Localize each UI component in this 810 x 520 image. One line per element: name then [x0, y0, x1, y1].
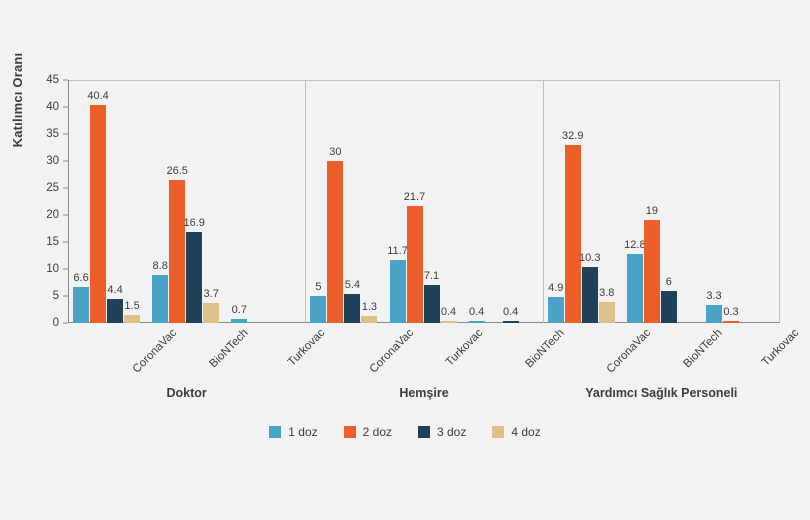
bar: 5 — [310, 296, 326, 323]
bar-value-label: 10.3 — [579, 252, 600, 264]
bar-value-label: 5 — [315, 281, 321, 293]
x-tick-label: Turkovac — [285, 327, 327, 369]
legend-label: 1 doz — [288, 425, 317, 439]
bar: 3.8 — [599, 302, 615, 323]
y-tick-label: 15 — [46, 236, 68, 248]
legend-swatch — [492, 426, 504, 438]
x-tick-label: BioNTech — [524, 327, 567, 370]
bar: 0.3 — [723, 321, 739, 323]
x-tick-label: CoronaVac — [367, 327, 416, 376]
bar-chart: Katılımcı Oranı 051015202530354045 6.640… — [0, 0, 810, 520]
bar-value-label: 0.4 — [503, 306, 518, 318]
bar: 0.7 — [231, 319, 247, 323]
bar: 16.9 — [186, 232, 202, 323]
bar-value-label: 12.8 — [624, 239, 645, 251]
bar: 11.7 — [390, 260, 406, 323]
plot-right-border — [779, 80, 780, 323]
panel-title: Yardımcı Sağlık Personeli — [585, 386, 737, 400]
bar: 0.4 — [503, 321, 519, 323]
bar-value-label: 21.7 — [404, 191, 425, 203]
panel-title: Doktor — [167, 386, 207, 400]
legend-item[interactable]: 1 doz — [269, 425, 317, 439]
x-tick-label: Turkovac — [444, 327, 486, 369]
y-tick-label: 0 — [53, 317, 68, 329]
bar-value-label: 3.3 — [706, 290, 721, 302]
y-axis-line — [68, 80, 69, 323]
legend-label: 4 doz — [511, 425, 540, 439]
x-tick-label: BioNTech — [682, 327, 725, 370]
bar: 8.8 — [152, 275, 168, 323]
y-axis-title: Katılımcı Oranı — [10, 0, 25, 200]
bar: 7.1 — [424, 285, 440, 323]
legend-label: 2 doz — [363, 425, 392, 439]
y-tick-label: 45 — [46, 74, 68, 86]
bar-value-label: 19 — [646, 205, 658, 217]
bar-value-label: 1.3 — [362, 301, 377, 313]
panel-title: Hemşire — [399, 386, 448, 400]
bar: 4.4 — [107, 299, 123, 323]
x-tick-label: CoronaVac — [130, 327, 179, 376]
bar: 4.9 — [548, 297, 564, 323]
bar-value-label: 4.4 — [107, 284, 122, 296]
bar-value-label: 16.9 — [183, 217, 204, 229]
bar: 1.3 — [361, 316, 377, 323]
bar-value-label: 1.5 — [124, 300, 139, 312]
bar: 26.5 — [169, 180, 185, 323]
legend-swatch — [344, 426, 356, 438]
bar: 40.4 — [90, 105, 106, 323]
y-tick-label: 20 — [46, 209, 68, 221]
y-tick-label: 5 — [53, 290, 68, 302]
legend-swatch — [418, 426, 430, 438]
x-tick-label: BioNTech — [207, 327, 250, 370]
bar-value-label: 0.4 — [441, 306, 456, 318]
bar-value-label: 0.7 — [232, 304, 247, 316]
bar-value-label: 4.9 — [548, 282, 563, 294]
y-tick-label: 35 — [46, 128, 68, 140]
panel-divider — [305, 80, 306, 323]
bar: 21.7 — [407, 206, 423, 323]
bar-value-label: 5.4 — [345, 279, 360, 291]
bar-value-label: 3.8 — [599, 287, 614, 299]
bar: 3.3 — [706, 305, 722, 323]
bar: 19 — [644, 220, 660, 323]
bar: 6 — [661, 291, 677, 323]
bar: 5.4 — [344, 294, 360, 323]
bar: 10.3 — [582, 267, 598, 323]
legend-label: 3 doz — [437, 425, 466, 439]
legend-item[interactable]: 3 doz — [418, 425, 466, 439]
bar-value-label: 32.9 — [562, 130, 583, 142]
bar-value-label: 0.3 — [723, 306, 738, 318]
bar-value-label: 3.7 — [204, 288, 219, 300]
legend-item[interactable]: 4 doz — [492, 425, 540, 439]
panel-divider — [543, 80, 544, 323]
bar: 0.4 — [469, 321, 485, 323]
legend-item[interactable]: 2 doz — [344, 425, 392, 439]
bar: 30 — [327, 161, 343, 323]
legend: 1 doz2 doz3 doz4 doz — [0, 425, 810, 439]
bar: 6.6 — [73, 287, 89, 323]
legend-swatch — [269, 426, 281, 438]
bar: 3.7 — [203, 303, 219, 323]
bar-value-label: 6 — [666, 276, 672, 288]
x-tick-label: CoronaVac — [605, 327, 654, 376]
plot-area: 051015202530354045 6.640.44.41.58.826.51… — [68, 80, 780, 323]
bar: 32.9 — [565, 145, 581, 323]
y-tick-label: 25 — [46, 182, 68, 194]
bar-value-label: 7.1 — [424, 270, 439, 282]
bar-value-label: 0.4 — [469, 306, 484, 318]
y-tick-label: 10 — [46, 263, 68, 275]
bar: 0.4 — [441, 321, 457, 323]
bar-value-label: 11.7 — [387, 245, 408, 257]
x-tick-label: Turkovac — [760, 327, 802, 369]
y-tick-label: 30 — [46, 155, 68, 167]
bar: 12.8 — [627, 254, 643, 323]
bar-value-label: 40.4 — [87, 90, 108, 102]
y-tick-label: 40 — [46, 101, 68, 113]
bar-value-label: 6.6 — [73, 272, 88, 284]
bar-value-label: 8.8 — [153, 260, 168, 272]
bar: 1.5 — [124, 315, 140, 323]
bar-value-label: 26.5 — [166, 165, 187, 177]
bar-value-label: 30 — [329, 146, 341, 158]
plot-top-border — [68, 80, 780, 81]
